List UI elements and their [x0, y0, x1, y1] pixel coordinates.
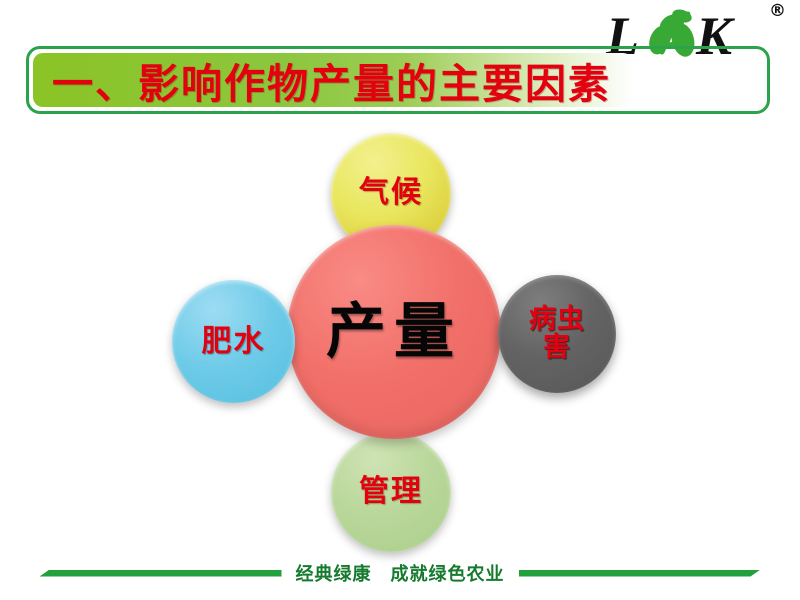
diagram-node-label: 管理 — [355, 476, 427, 508]
footer-rule-right — [519, 570, 761, 577]
page-title: 一、影响作物产量的主要因素 — [52, 46, 752, 114]
diagram-node-label: 气候 — [355, 177, 427, 209]
slide-canvas: L K ® 一、影响作物产量的主要因素 气候 肥水 产量 — [0, 0, 800, 600]
diagram-node-label: 肥水 — [198, 326, 270, 358]
registered-trademark-icon: ® — [769, 3, 786, 20]
footer-slogan: 经典绿康 成就绿色农业 — [282, 560, 519, 586]
diagram-node-pests-diseases[interactable]: 病虫害 — [498, 275, 616, 393]
diagram-node-yield[interactable]: 产量 — [287, 225, 501, 439]
footer: 经典绿康 成就绿色农业 — [0, 556, 800, 590]
diagram-node-label: 病虫害 — [516, 306, 598, 363]
diagram-node-fertilizer-water[interactable]: 肥水 — [172, 280, 295, 403]
diagram-node-management[interactable]: 管理 — [331, 432, 451, 552]
footer-rule-left — [40, 570, 282, 577]
diagram-center-label: 产量 — [322, 301, 466, 364]
factors-diagram: 气候 肥水 产量 病虫害 管理 — [0, 120, 800, 550]
